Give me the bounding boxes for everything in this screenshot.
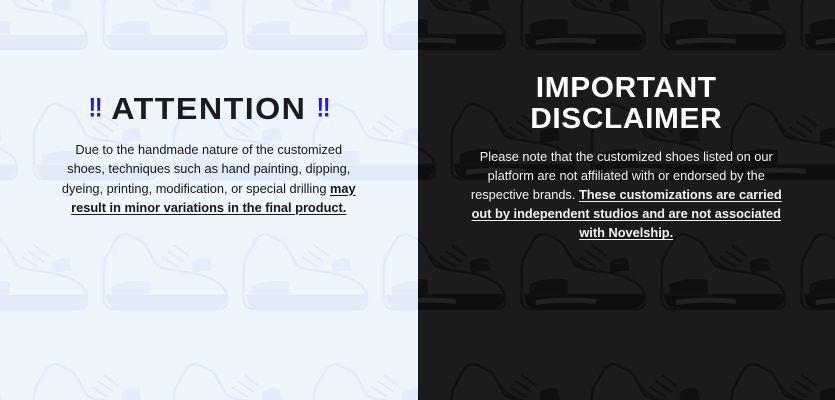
attention-heading-text: ATTENTION — [111, 91, 306, 127]
exclamation-left-icon: !! — [89, 93, 102, 124]
attention-body-regular: Due to the handmade nature of the custom… — [62, 142, 350, 196]
disclaimer-heading-line1: IMPORTANT — [530, 73, 722, 103]
attention-panel: !! ATTENTION !! Due to the handmade natu… — [0, 0, 418, 400]
disclaimer-banner: !! ATTENTION !! Due to the handmade natu… — [0, 0, 835, 400]
disclaimer-panel: IMPORTANT DISCLAIMER Please note that th… — [418, 0, 835, 400]
disclaimer-heading-line2: DISCLAIMER — [530, 104, 722, 134]
disclaimer-body: Please note that the customized shoes li… — [470, 147, 782, 243]
attention-heading: !! ATTENTION !! — [88, 91, 329, 127]
attention-body: Due to the handmade nature of the custom… — [59, 140, 359, 218]
exclamation-right-icon: !! — [316, 93, 329, 124]
disclaimer-heading: IMPORTANT DISCLAIMER — [530, 73, 722, 133]
